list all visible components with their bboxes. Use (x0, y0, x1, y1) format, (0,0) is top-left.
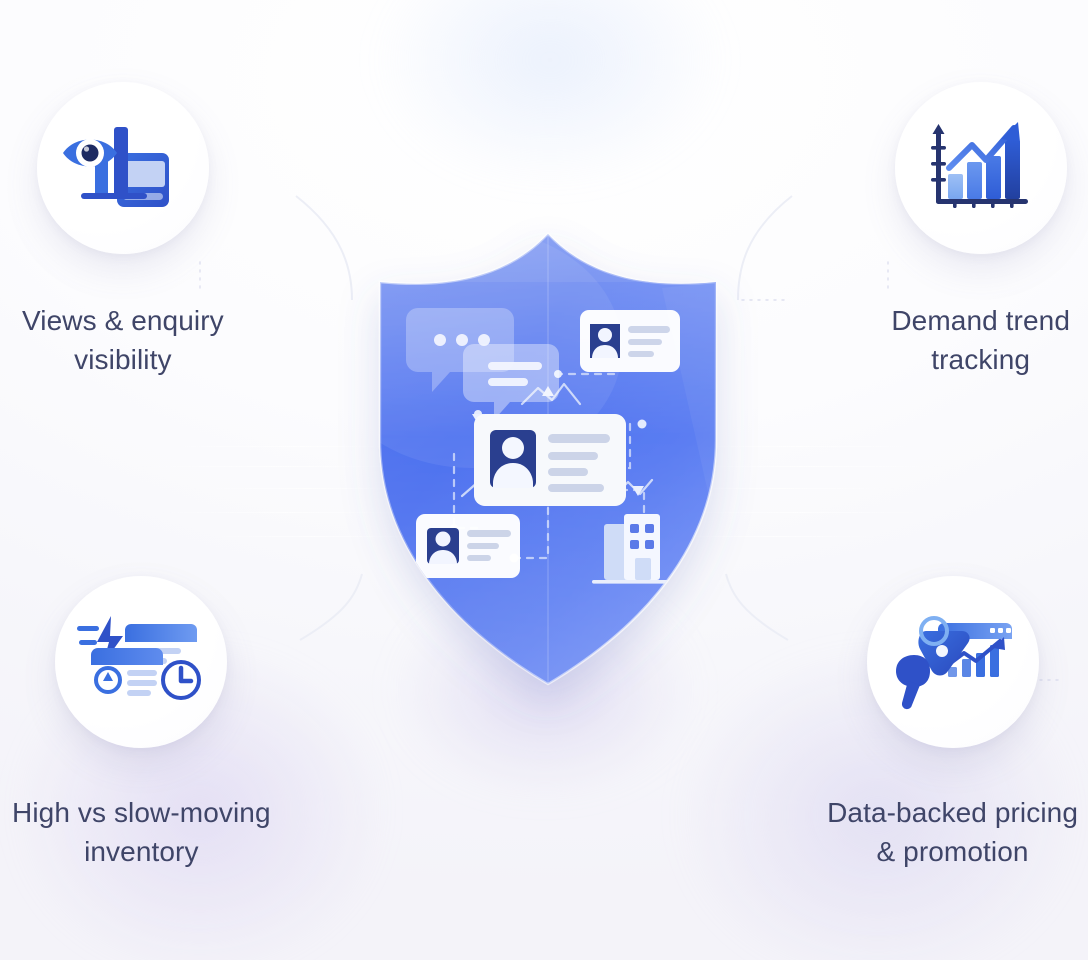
protection-shield (362, 228, 734, 690)
feature-label-line2: inventory (12, 833, 271, 872)
infographic-canvas: Views & enquiry visibility (0, 0, 1088, 960)
feature-data-backed-pricing-promotion[interactable]: Data-backed pricing & promotion (827, 576, 1078, 871)
feature-label: Data-backed pricing & promotion (827, 794, 1078, 871)
feature-high-vs-slow-moving-inventory[interactable]: High vs slow-moving inventory (12, 576, 271, 871)
feature-label: High vs slow-moving inventory (12, 794, 271, 871)
feature-label: Demand trend tracking (891, 302, 1070, 379)
feature-label-line2: visibility (22, 341, 224, 380)
contact-card-top-right (580, 310, 680, 372)
feature-label-line1: Views & enquiry (22, 302, 224, 341)
clock-icon (163, 662, 199, 698)
feature-icon-bubble (37, 82, 209, 254)
feature-label-line2: tracking (891, 341, 1070, 380)
background-blue-glow (300, 0, 800, 240)
feature-icon-bubble (55, 576, 227, 748)
feature-views-enquiry-visibility[interactable]: Views & enquiry visibility (22, 82, 224, 379)
feature-icon-bubble (867, 576, 1039, 748)
eye-shape (63, 139, 117, 167)
contact-card-bottom-left (416, 514, 520, 578)
feature-demand-trend-tracking[interactable]: Demand trend tracking (891, 82, 1070, 379)
fast-slow-cards-clock-icon (77, 610, 205, 714)
feature-label-line2: & promotion (827, 833, 1078, 872)
price-tag-megaphone-chart-icon (890, 609, 1016, 715)
feature-label-line1: Data-backed pricing (827, 794, 1078, 833)
feature-label-line1: Demand trend (891, 302, 1070, 341)
eye-bar-chart-icon (59, 113, 187, 223)
contact-card-center (474, 414, 626, 506)
feature-icon-bubble (895, 82, 1067, 254)
feature-label-line1: High vs slow-moving (12, 794, 271, 833)
growth-bar-chart-arrow-icon (922, 116, 1040, 220)
feature-label: Views & enquiry visibility (22, 302, 224, 379)
megaphone-icon (896, 655, 930, 709)
